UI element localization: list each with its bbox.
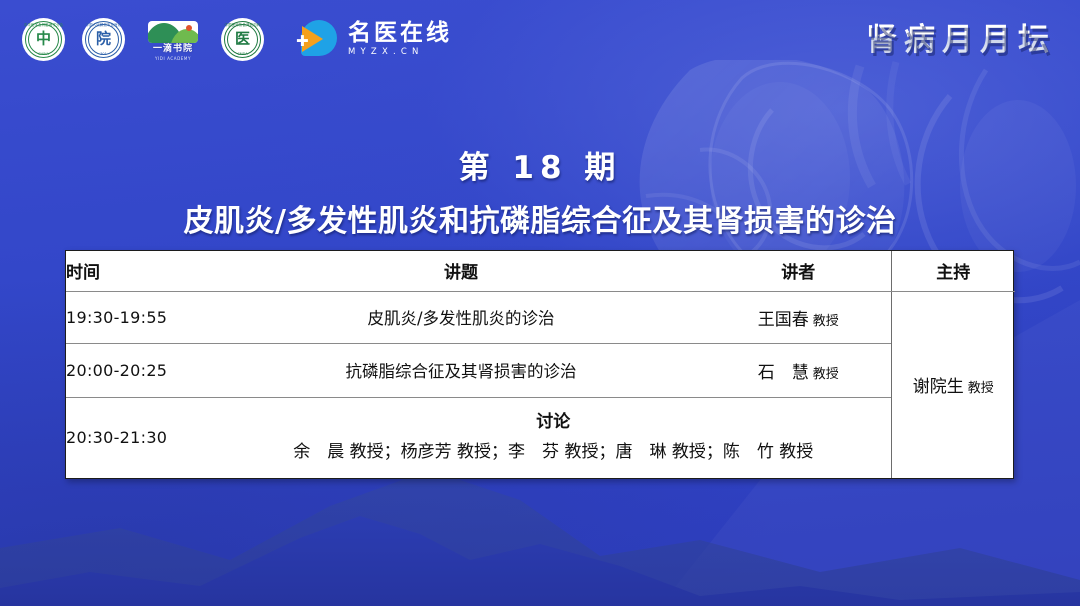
row-2-speaker: 石 慧教授 <box>706 343 891 397</box>
column-header-host: 主持 <box>891 251 1015 291</box>
play-heart-icon: ✚ <box>293 18 339 60</box>
issue-number: 第 18 期 <box>0 142 1080 187</box>
academy-logo: 一滴书院 YIDI ACADEMY <box>142 18 204 61</box>
column-header-speaker: 讲者 <box>706 251 891 291</box>
host-cell: 谢院生教授 <box>891 291 1015 478</box>
discussant-list: 余 晨 教授；杨彦芳 教授；李 芬 教授；唐 琳 教授；陈 竹 教授 <box>216 440 891 466</box>
row-2-topic: 抗磷脂综合征及其肾损害的诊治 <box>216 343 706 397</box>
column-header-topic: 讲题 <box>216 251 706 291</box>
sponsor-name-en: MYZX.CN <box>348 47 452 57</box>
seal-logo-4: 中国医师协会肾脏内科 医 CMDA <box>221 18 264 61</box>
agenda-table-container: 时间 讲题 讲者 主持 19:30-19:55 皮肌炎/多发性肌炎的诊治 王国春… <box>65 250 1014 479</box>
row-1-speaker-title: 教授 <box>813 314 839 329</box>
table-row: 20:00-20:25 抗磷脂综合征及其肾损害的诊治 石 慧教授 <box>66 343 1015 397</box>
title-block: 第 18 期 皮肌炎/多发性肌炎和抗磷脂综合征及其肾损害的诊治 <box>0 142 1080 240</box>
row-1-topic: 皮肌炎/多发性肌炎的诊治 <box>216 291 706 343</box>
seal-logo-4-arc-top: 中国医师协会肾脏内科 <box>221 22 264 27</box>
row-2-speaker-title: 教授 <box>813 367 839 382</box>
series-title: 肾病月月坛 <box>866 14 1056 59</box>
seal-logo-1-arc-bottom: CHINA <box>22 52 65 56</box>
seal-logo-1-arc-top: 中华医学会肾脏病学分会 <box>22 22 65 27</box>
row-2-time: 20:00-20:25 <box>66 343 216 397</box>
table-header-row: 时间 讲题 讲者 主持 <box>66 251 1015 291</box>
plus-icon: ✚ <box>296 34 309 49</box>
column-header-time: 时间 <box>66 251 216 291</box>
discussion-heading: 讨论 <box>216 410 891 436</box>
seal-logo-1: 中华医学会肾脏病学分会 中 CHINA <box>22 18 65 61</box>
sponsor-logo: ✚ 名医在线 MYZX.CN <box>293 18 452 60</box>
host-title: 教授 <box>968 381 994 396</box>
row-3-time: 20:30-21:30 <box>66 397 216 478</box>
seal-logo-4-arc-bottom: CMDA <box>221 52 264 56</box>
table-row: 19:30-19:55 皮肌炎/多发性肌炎的诊治 王国春教授 谢院生教授 <box>66 291 1015 343</box>
seal-logo-2: 中国人民解放军总医院 院 301 <box>82 18 125 61</box>
agenda-table: 时间 讲题 讲者 主持 19:30-19:55 皮肌炎/多发性肌炎的诊治 王国春… <box>66 251 1015 478</box>
host-name: 谢院生 <box>913 377 964 397</box>
partner-logo-row: 中华医学会肾脏病学分会 中 CHINA 中国人民解放军总医院 院 301 一滴书… <box>22 18 452 61</box>
row-1-time: 19:30-19:55 <box>66 291 216 343</box>
table-row: 20:30-21:30 讨论 余 晨 教授；杨彦芳 教授；李 芬 教授；唐 琳 … <box>66 397 1015 478</box>
seal-logo-2-monogram: 院 <box>96 32 111 47</box>
seal-logo-2-arc-top: 中国人民解放军总医院 <box>82 22 125 27</box>
header-bar: 中华医学会肾脏病学分会 中 CHINA 中国人民解放军总医院 院 301 一滴书… <box>0 0 1080 78</box>
seal-logo-4-monogram: 医 <box>235 32 250 47</box>
row-1-speaker: 王国春教授 <box>706 291 891 343</box>
seal-logo-2-arc-bottom: 301 <box>82 52 125 56</box>
academy-logo-hill-icon <box>148 21 198 43</box>
row-1-speaker-name: 王国春 <box>758 310 809 330</box>
row-2-speaker-name: 石 慧 <box>758 363 809 383</box>
academy-logo-name-en: YIDI ACADEMY <box>144 56 202 61</box>
row-3-discussion: 讨论 余 晨 教授；杨彦芳 教授；李 芬 教授；唐 琳 教授；陈 竹 教授 <box>216 397 891 478</box>
seal-logo-1-monogram: 中 <box>36 32 51 47</box>
sponsor-name-cn: 名医在线 <box>348 21 452 45</box>
page-title: 皮肌炎/多发性肌炎和抗磷脂综合征及其肾损害的诊治 <box>0 196 1080 240</box>
academy-logo-name-cn: 一滴书院 <box>144 41 202 54</box>
